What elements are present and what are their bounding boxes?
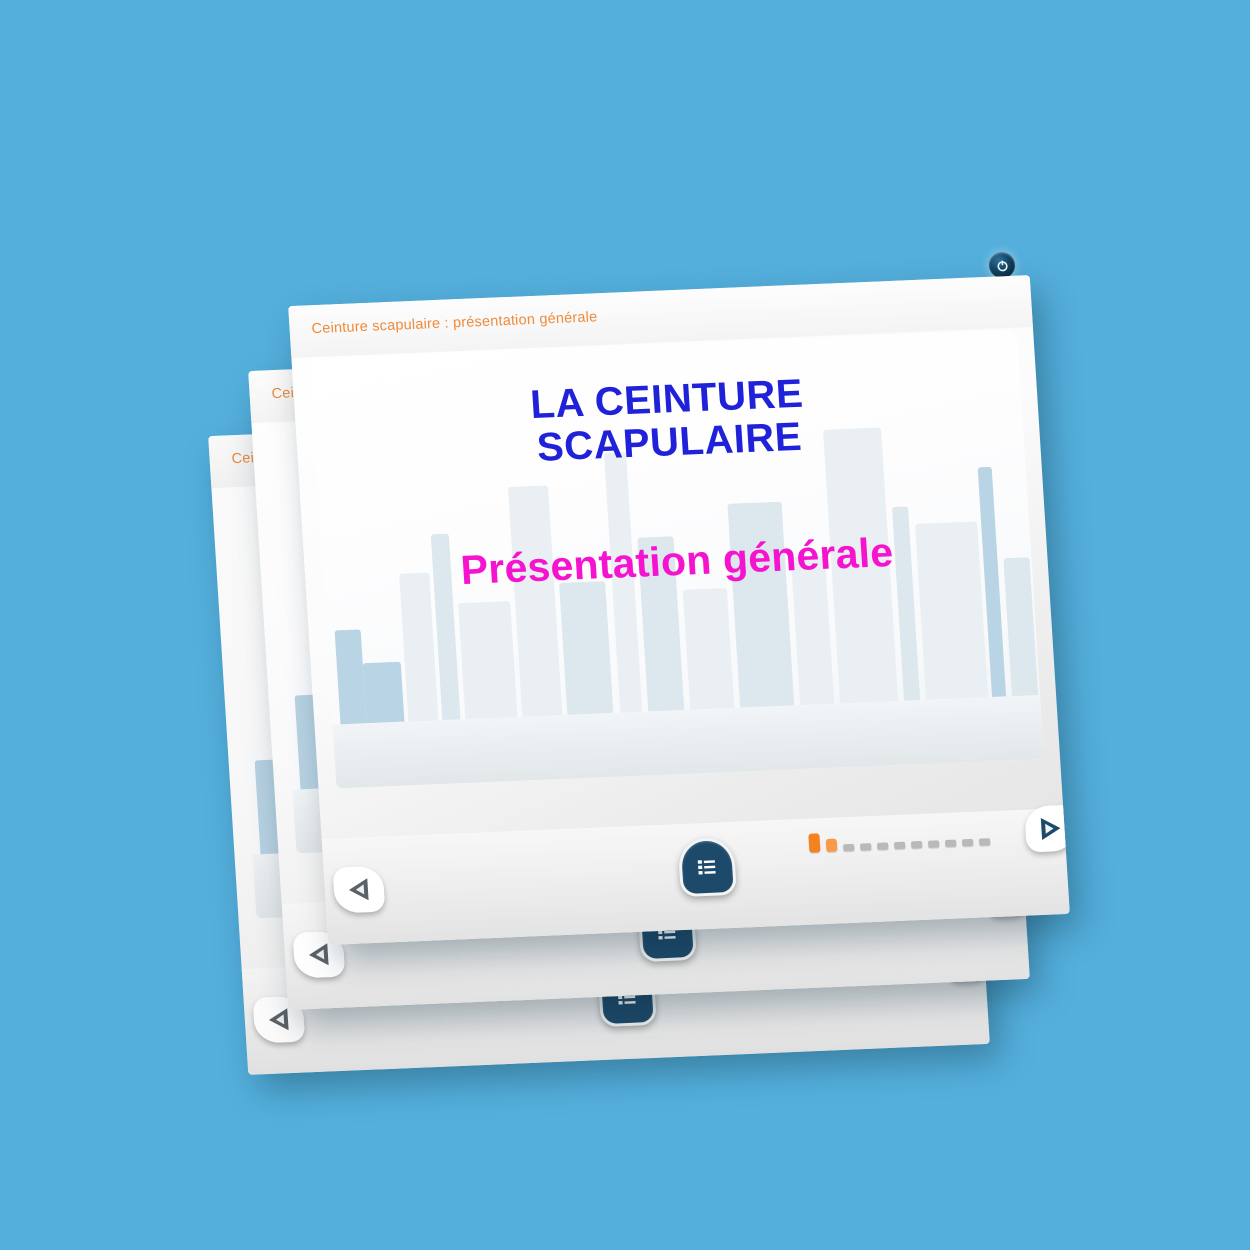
slide-title-main: LA CEINTURE SCAPULAIRE	[312, 364, 1025, 480]
progress-step[interactable]	[808, 833, 820, 852]
slide-title-sub: Présentation générale	[322, 523, 1032, 600]
progress-step[interactable]	[945, 840, 956, 847]
progress-step[interactable]	[860, 843, 871, 850]
slide-title-block: LA CEINTURE SCAPULAIRE Présentation géné…	[310, 330, 1045, 789]
screen: Ceinture scapulaire : présentation génér…	[0, 0, 1250, 1250]
triangle-right-icon	[1036, 815, 1066, 842]
slide-canvas: LA CEINTURE SCAPULAIRE Présentation géné…	[310, 330, 1045, 789]
progress-step[interactable]	[911, 841, 922, 848]
power-icon	[995, 258, 1009, 272]
slide-header-title: Ceinture scapulaire : présentation génér…	[311, 309, 598, 337]
list-menu-icon	[697, 857, 718, 878]
progress-step[interactable]	[928, 840, 939, 847]
next-button[interactable]	[1021, 801, 1070, 855]
progress-indicator[interactable]	[808, 826, 990, 853]
triangle-left-icon	[344, 876, 374, 903]
triangle-left-icon	[264, 1006, 294, 1033]
prev-button[interactable]	[329, 862, 388, 916]
menu-button[interactable]	[677, 838, 736, 896]
triangle-left-icon	[304, 941, 334, 968]
slide-card-front[interactable]: Ceinture scapulaire : présentation génér…	[288, 275, 1070, 945]
power-button[interactable]	[988, 252, 1016, 279]
progress-step[interactable]	[826, 839, 838, 852]
progress-step[interactable]	[877, 842, 888, 849]
progress-step[interactable]	[843, 844, 854, 851]
progress-step[interactable]	[894, 842, 905, 849]
progress-step[interactable]	[979, 838, 990, 845]
progress-step[interactable]	[962, 839, 973, 846]
